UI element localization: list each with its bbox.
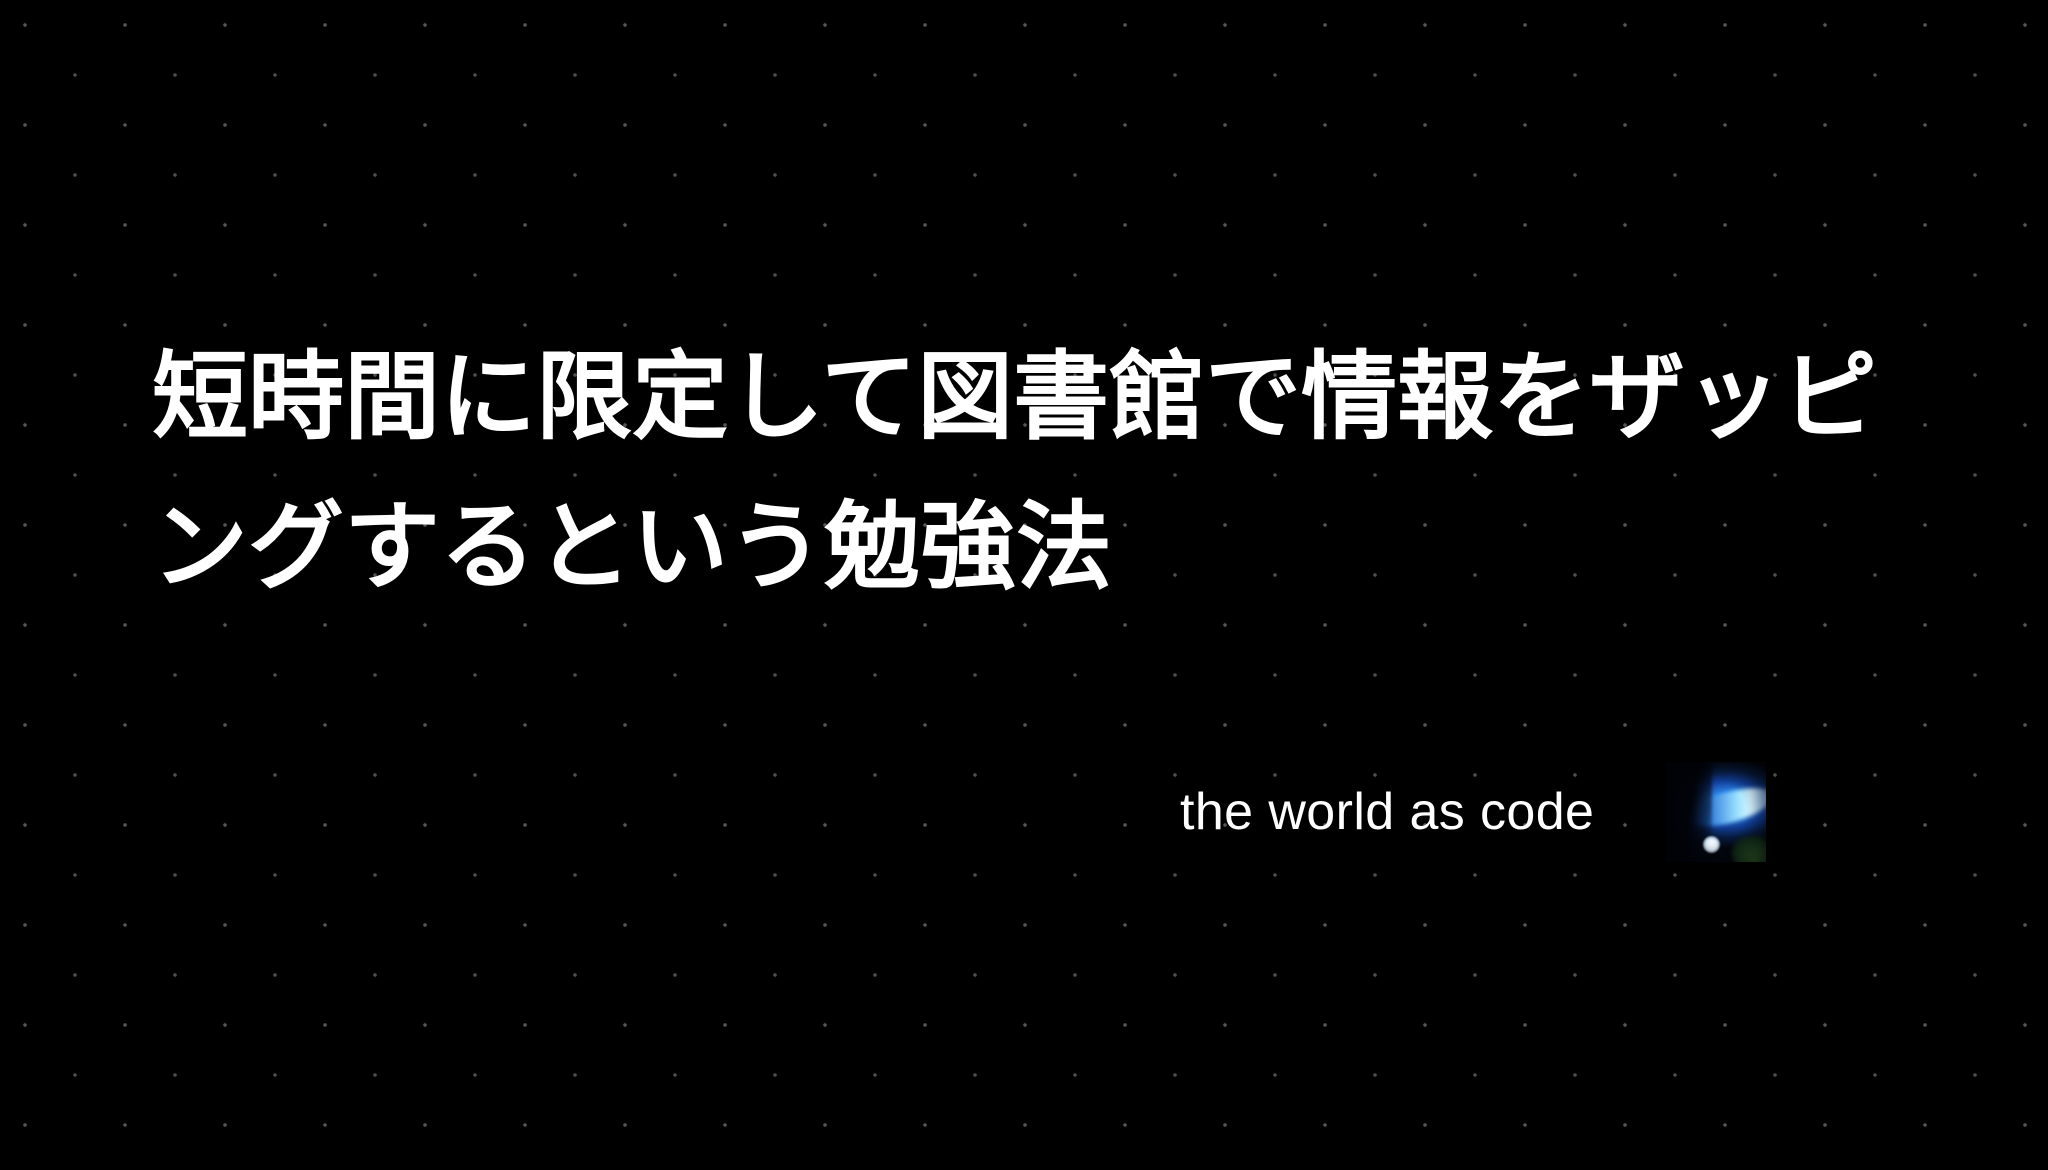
slide-title-line-2: ングするという勉強法 (152, 472, 1912, 622)
presentation-slide: 短時間に限定して図書館で情報をザッピ ングするという勉強法 the world … (0, 0, 2048, 1170)
slide-title-line-1: 短時間に限定して図書館で情報をザッピ (152, 322, 1912, 472)
slide-content: 短時間に限定して図書館で情報をザッピ ングするという勉強法 the world … (0, 0, 2048, 1170)
thumbnail-vignette (1666, 762, 1766, 862)
slide-footer: the world as code (1180, 762, 1766, 862)
comet-night-sky-thumbnail (1666, 762, 1766, 862)
slide-subtitle: the world as code (1180, 786, 1594, 838)
slide-title: 短時間に限定して図書館で情報をザッピ ングするという勉強法 (152, 322, 1912, 622)
